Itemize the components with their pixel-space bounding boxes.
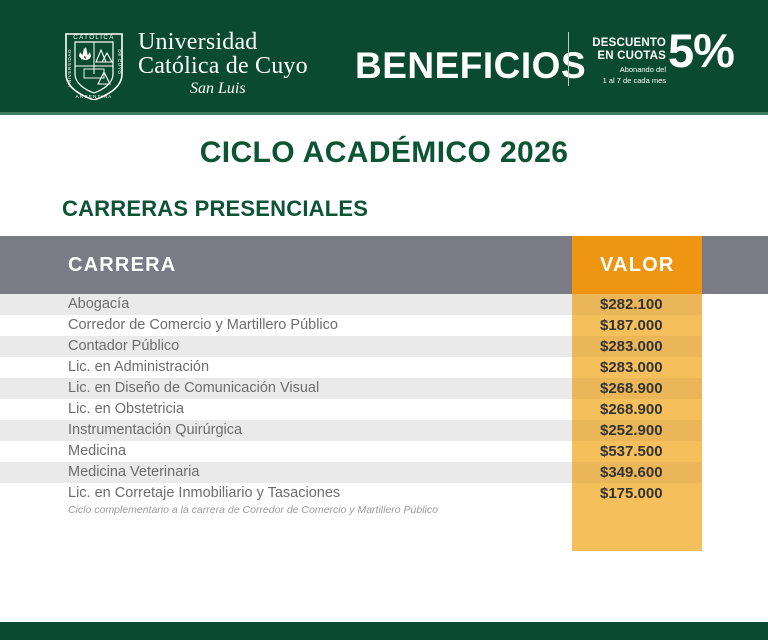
page-title: CICLO ACADÉMICO 2026	[0, 136, 768, 170]
cell-carrera: Medicina Veterinaria	[68, 464, 199, 480]
benefits-heading: BENEFICIOS	[355, 45, 586, 87]
discount-text-block: DESCUENTO EN CUOTAS Abonando del 1 al 7 …	[580, 37, 666, 86]
discount-fine-print-1: Abonando del	[580, 65, 666, 74]
crest-top-text: CATOLICA	[73, 34, 115, 41]
header-divider-rule	[0, 112, 768, 115]
table-body: Abogacía$282.100Corredor de Comercio y M…	[0, 294, 768, 525]
cell-valor: $349.600	[600, 464, 663, 481]
table-row: Medicina$537.500	[0, 441, 768, 462]
column-header-valor: VALOR	[600, 254, 675, 277]
crest-bottom-text: ARGENTINA	[76, 94, 113, 99]
cell-valor: $537.500	[600, 443, 663, 460]
cell-valor: $187.000	[600, 317, 663, 334]
table-row: Medicina Veterinaria$349.600	[0, 462, 768, 483]
crest-left-text: UNIVERSIDAD	[67, 49, 72, 87]
cell-carrera: Corredor de Comercio y Martillero Públic…	[68, 317, 338, 333]
cell-carrera: Contador Público	[68, 338, 179, 354]
crest-icon: CATOLICA ARGENTINA UNIVERSIDAD DE CUYO	[62, 28, 126, 100]
cell-valor: $283.000	[600, 359, 663, 376]
page-subtitle: CARRERAS PRESENCIALES	[62, 196, 368, 222]
discount-fine-print-2: 1 al 7 de cada mes	[580, 76, 666, 85]
university-wordmark: Universidad Católica de Cuyo San Luis	[138, 30, 308, 97]
university-campus-label: San Luis	[138, 81, 308, 97]
cell-valor: $282.100	[600, 296, 663, 313]
table-row: Lic. en Corretaje Inmobiliario y Tasacio…	[0, 483, 768, 525]
table-row: Instrumentación Quirúrgica$252.900	[0, 420, 768, 441]
cell-valor: $175.000	[600, 485, 663, 502]
crest-right-text: DE CUYO	[117, 49, 122, 74]
table-row: Contador Público$283.000	[0, 336, 768, 357]
table-row: Corredor de Comercio y Martillero Públic…	[0, 315, 768, 336]
table-row: Abogacía$282.100	[0, 294, 768, 315]
cell-valor: $283.000	[600, 338, 663, 355]
column-header-carrera: CARRERA	[68, 254, 176, 277]
cell-valor: $268.900	[600, 401, 663, 418]
university-name-line-1: Universidad	[138, 30, 308, 54]
value-column-tail	[572, 525, 702, 551]
cell-valor: $268.900	[600, 380, 663, 397]
cell-carrera: Lic. en Corretaje Inmobiliario y Tasacio…	[68, 485, 340, 501]
discount-percent-value: 5%	[668, 27, 734, 74]
footer-bar	[0, 622, 768, 640]
table-row: Lic. en Obstetricia$268.900	[0, 399, 768, 420]
header-vertical-divider	[568, 32, 569, 86]
discount-badge: DESCUENTO EN CUOTAS Abonando del 1 al 7 …	[580, 33, 760, 89]
university-crest-logo: CATOLICA ARGENTINA UNIVERSIDAD DE CUYO	[62, 28, 126, 100]
table-row: Lic. en Diseño de Comunicación Visual$26…	[0, 378, 768, 399]
cell-carrera: Medicina	[68, 443, 126, 459]
cell-carrera: Lic. en Obstetricia	[68, 401, 184, 417]
discount-label-line-1: DESCUENTO	[580, 37, 666, 50]
cell-carrera: Instrumentación Quirúrgica	[68, 422, 242, 438]
discount-label-line-2: EN CUOTAS	[580, 50, 666, 63]
university-name-line-2: Católica de Cuyo	[138, 54, 308, 78]
cell-valor: $252.900	[600, 422, 663, 439]
table-header-row: CARRERA VALOR	[0, 236, 768, 294]
cell-carrera: Abogacía	[68, 296, 129, 312]
cell-carrera-note: Ciclo complementario a la carrera de Cor…	[68, 504, 438, 516]
cell-carrera: Lic. en Administración	[68, 359, 209, 375]
table-row: Lic. en Administración$283.000	[0, 357, 768, 378]
cell-carrera: Lic. en Diseño de Comunicación Visual	[68, 380, 319, 396]
tuition-table: CARRERA VALOR Abogacía$282.100Corredor d…	[0, 236, 768, 525]
column-header-valor-cell: VALOR	[572, 236, 702, 294]
